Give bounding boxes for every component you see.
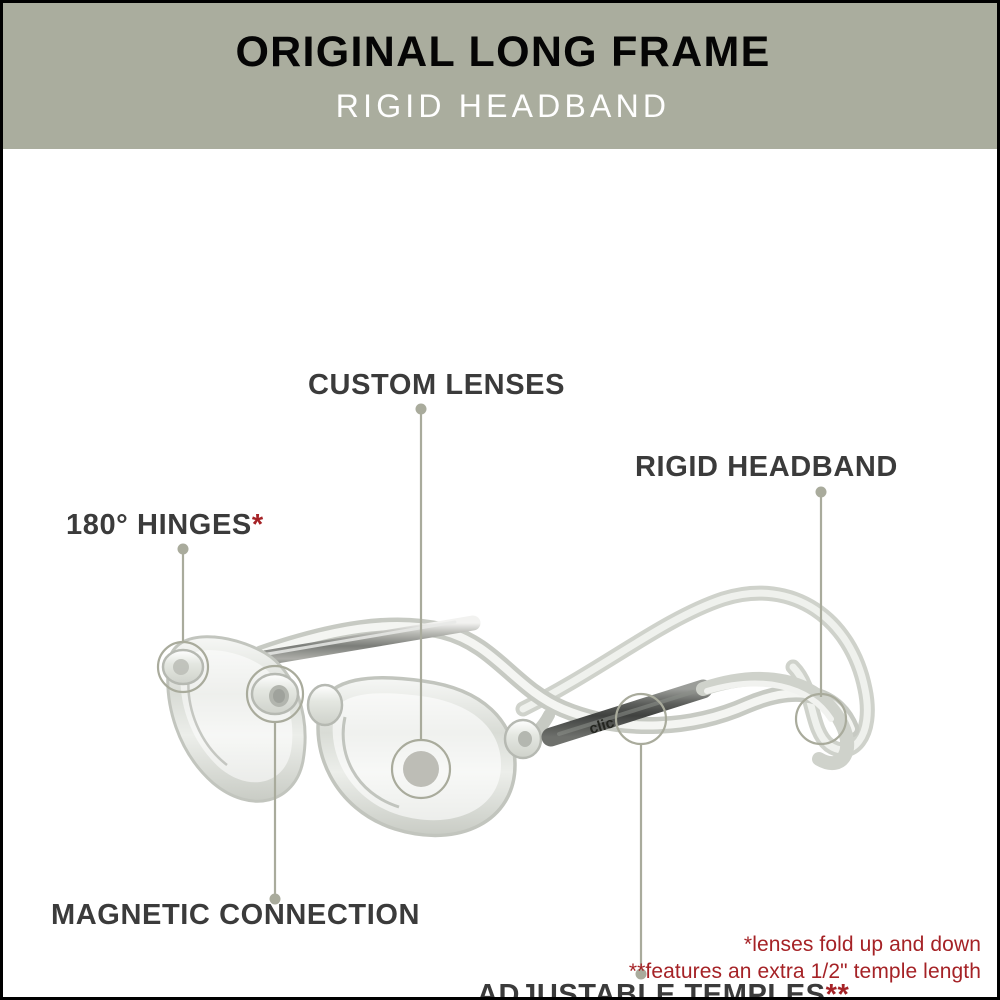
callout-text-magnetic-connection: MAGNETIC CONNECTION xyxy=(51,899,420,931)
product-feature-diagram: ORIGINAL LONG FRAME RIGID HEADBAND xyxy=(0,0,1000,1000)
callout-label-magnetic-connection: MAGNETIC CONNECTION xyxy=(51,901,420,930)
diagram-canvas: clic xyxy=(3,149,1000,1000)
callout-label-hinges: 180° HINGES* xyxy=(66,511,264,540)
callout-label-rigid-headband: RIGID HEADBAND xyxy=(635,453,898,482)
footnotes: *lenses fold up and down **features an e… xyxy=(629,932,981,986)
leader-dot-hinges xyxy=(178,544,189,555)
callout-asterisk-hinges: * xyxy=(252,509,264,541)
callout-text-hinges: 180° HINGES xyxy=(66,509,252,541)
page-title: ORIGINAL LONG FRAME xyxy=(235,31,770,74)
callout-text-rigid-headband: RIGID HEADBAND xyxy=(635,451,898,483)
leader-dot-custom-lenses xyxy=(416,404,427,415)
magnet-left xyxy=(252,674,298,714)
hinge-left xyxy=(163,650,203,684)
callout-text-custom-lenses: CUSTOM LENSES xyxy=(308,369,565,401)
header-band: ORIGINAL LONG FRAME RIGID HEADBAND xyxy=(3,3,1000,149)
callout-label-custom-lenses: CUSTOM LENSES xyxy=(308,371,565,400)
footnote-single-asterisk: *lenses fold up and down xyxy=(629,932,981,959)
footnote-double-asterisk: **features an extra 1/2" temple length xyxy=(629,959,981,986)
page-subtitle: RIGID HEADBAND xyxy=(336,90,670,122)
product-illustration: clic xyxy=(3,149,1000,1000)
glasses-illustration: clic xyxy=(163,593,867,835)
leader-dot-rigid-headband xyxy=(816,487,827,498)
lens-indicator-dot xyxy=(403,751,439,787)
